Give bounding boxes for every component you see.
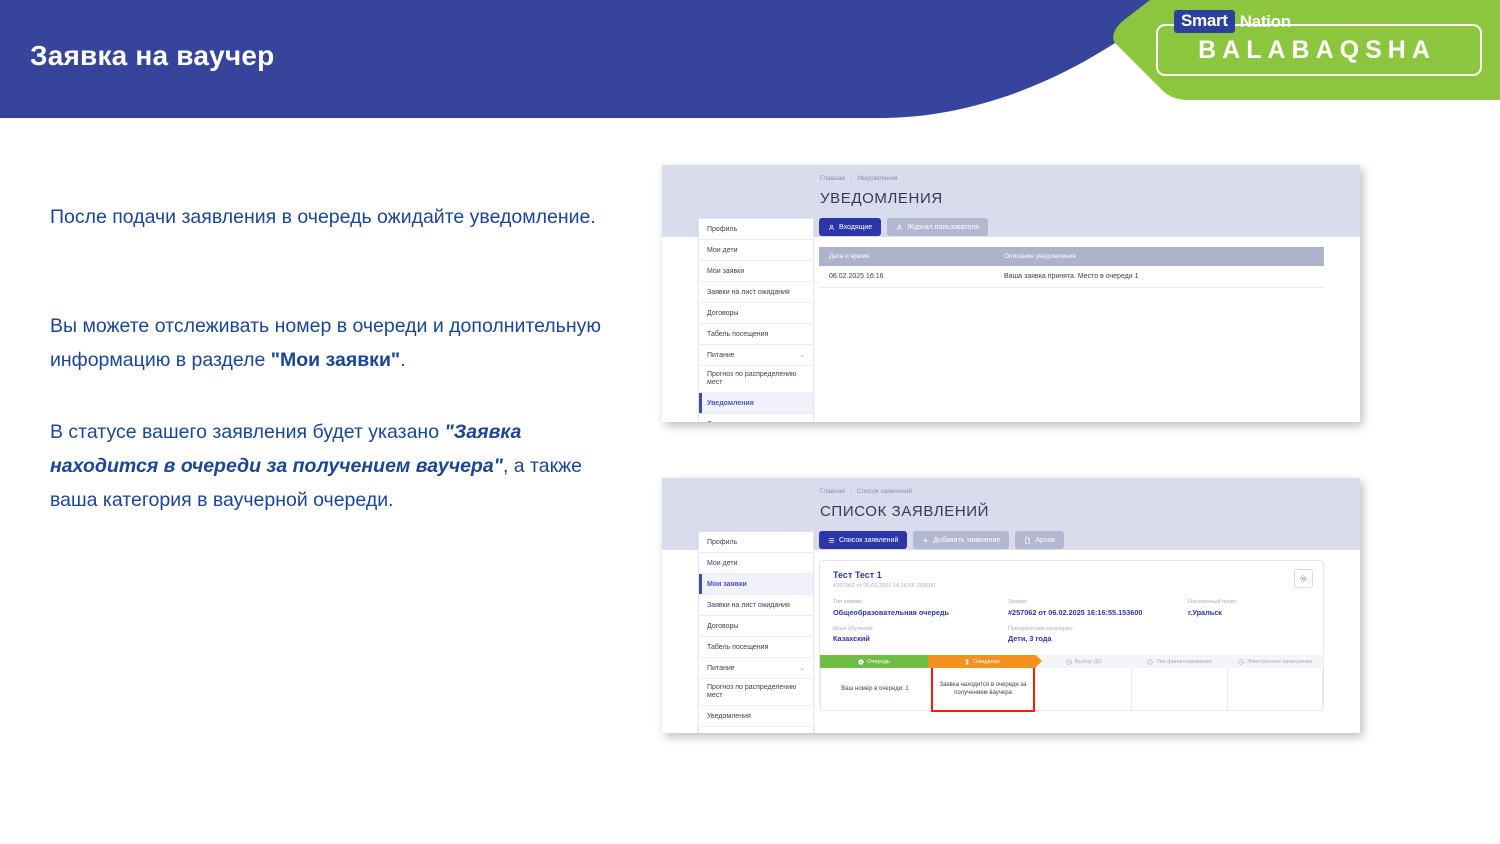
card-reference: #257062 от 06.02.2025 16:16:55.153600 <box>833 583 935 589</box>
shot2-breadcrumb-home[interactable]: Главная <box>820 488 845 495</box>
shot2-breadcrumb: Главная›Список заявлений <box>820 488 912 495</box>
card-field-row-2: Язык обучения: Казахский Приоритетная ка… <box>833 626 1310 644</box>
card-child-name: Тест Тест 1 <box>833 570 882 580</box>
sidebar-item-contracts-label: Договоры <box>707 310 738 317</box>
logo-nation-text: Nation <box>1240 12 1291 32</box>
logo-smart-text: Smart <box>1174 10 1235 33</box>
page-title: Заявка на ваучер <box>30 40 274 72</box>
user-icon <box>828 224 835 231</box>
sidebar-item-my-applications[interactable]: Мои заявки <box>699 261 813 282</box>
sidebar-item-attendance[interactable]: Табель посещения <box>699 637 813 658</box>
gear-icon <box>1299 574 1308 583</box>
tab-archive-label: Архив <box>1035 537 1055 544</box>
step-funding-type-label: Тип финансирования <box>1156 659 1211 665</box>
highlight-box <box>931 666 1035 712</box>
paragraph-track-queue-bold: "Мои заявки" <box>271 349 400 371</box>
check-circle-icon <box>858 659 864 665</box>
field-application-type-value: Общеобразовательная очередь <box>833 608 1008 617</box>
tab-user-log-label: Журнал пользователя <box>907 224 979 231</box>
shot1-breadcrumb-current: Уведомления <box>857 175 898 182</box>
paragraph-status-info-part1: В статусе вашего заявления будет указано <box>50 421 444 443</box>
screenshot-notifications: Главная›Уведомления УВЕДОМЛЕНИЯ Профиль … <box>662 165 1360 422</box>
card-field-row-1: Тип заявки: Общеобразовательная очередь … <box>833 599 1310 617</box>
field-priority-category-value: Дети, 3 года <box>1008 634 1188 643</box>
status-cell-electronic-enrollment <box>1228 668 1322 710</box>
sidebar-item-places-forecast[interactable]: Прогноз по распределению мест <box>699 366 813 393</box>
sidebar-item-my-applications[interactable]: Мои заявки <box>699 574 813 595</box>
sidebar-item-my-applications-label: Мои заявки <box>707 268 744 275</box>
explanatory-text-column: После подачи заявления в очередь ожидайт… <box>50 200 615 517</box>
field-priority-category-label: Приоритетная категория: <box>1008 626 1188 632</box>
sidebar-item-notifications[interactable]: Уведомления <box>699 706 813 727</box>
card-fields: Тип заявки: Общеобразовательная очередь … <box>833 599 1310 652</box>
sidebar-item-waiting-list-label: Заявки на лист ожидания <box>707 289 790 296</box>
sidebar-item-attendance[interactable]: Табель посещения <box>699 324 813 345</box>
paragraph-track-queue-part2: . <box>400 349 405 371</box>
sidebar-item-contracts-label: Договоры <box>707 623 738 630</box>
field-language-value: Казахский <box>833 634 1008 643</box>
column-header-description: Описание уведомления <box>994 247 1324 266</box>
sidebar-item-change-role[interactable]: Сменить роль <box>699 414 813 422</box>
tab-add-application[interactable]: Добавить заявление <box>913 531 1009 549</box>
sidebar-item-notifications-label: Уведомления <box>707 713 751 720</box>
sidebar-item-meals[interactable]: Питание⌄ <box>699 658 813 679</box>
sidebar-item-places-forecast-label: Прогноз по распределению мест <box>707 684 805 701</box>
application-status-row: Ваш номер в очереди: 1 Заявка находится … <box>820 668 1323 711</box>
tab-user-log[interactable]: Журнал пользователя <box>887 218 988 236</box>
shot2-tab-bar: Список заявлений Добавить заявление Архи… <box>819 531 1064 549</box>
field-priority-category: Приоритетная категория: Дети, 3 года <box>1008 626 1188 644</box>
clock-icon <box>1238 659 1244 665</box>
page-header: Заявка на ваучер Smart Nation BALABAQSHA <box>0 0 1500 118</box>
field-language-label: Язык обучения: <box>833 626 1008 632</box>
column-header-datetime: Дата и время <box>819 247 994 266</box>
sidebar-item-contracts[interactable]: Договоры <box>699 616 813 637</box>
status-cell-choose-preschool <box>1037 668 1132 710</box>
shot1-breadcrumb-separator-icon: › <box>850 175 852 182</box>
hourglass-icon <box>964 659 970 665</box>
field-application-type-label: Тип заявки: <box>833 599 1008 605</box>
sidebar-item-meals[interactable]: Питание⌄ <box>699 345 813 366</box>
status-queue-number: Ваш номер в очереди: 1 <box>821 668 929 710</box>
step-electronic-enrollment-label: Электронное зачисление <box>1247 659 1313 665</box>
field-application-type: Тип заявки: Общеобразовательная очередь <box>833 599 1008 617</box>
step-queue-label: Очередь <box>867 659 890 665</box>
sidebar-item-waiting-list[interactable]: Заявки на лист ожидания <box>699 282 813 303</box>
status-waiting-message: Заявка находится в очереди за получением… <box>929 668 1037 710</box>
cell-description: Ваша заявка принята. Место в очереди 1 <box>994 266 1324 288</box>
sidebar-item-waiting-list-label: Заявки на лист ожидания <box>707 602 790 609</box>
sidebar-item-my-children-label: Мои дети <box>707 247 738 254</box>
field-locality: Населенный пункт: г.Уральск <box>1188 599 1308 617</box>
field-application-ref: Заявка: #257062 от 06.02.2025 16:16:55.1… <box>1008 599 1188 617</box>
tab-inbox-label: Входящие <box>839 224 872 231</box>
field-application-ref-label: Заявка: <box>1008 599 1188 605</box>
sidebar-item-notifications-label: Уведомления <box>707 400 754 407</box>
sidebar-item-change-role-label: Сменить роль <box>707 421 753 422</box>
sidebar-item-places-forecast[interactable]: Прогноз по распределению мест <box>699 679 813 706</box>
step-funding-type[interactable]: Тип финансирования <box>1132 655 1228 668</box>
sidebar-item-profile[interactable]: Профиль <box>699 219 813 240</box>
sidebar-item-my-applications-label: Мои заявки <box>707 581 747 588</box>
step-queue[interactable]: Очередь <box>820 655 928 668</box>
screenshot-applications-list: Главная›Список заявлений СПИСОК ЗАЯВЛЕНИ… <box>662 478 1360 733</box>
tab-applications-list[interactable]: Список заявлений <box>819 531 907 549</box>
plus-icon <box>922 537 929 544</box>
sidebar-item-my-children[interactable]: Мои дети <box>699 553 813 574</box>
tab-inbox[interactable]: Входящие <box>819 218 881 236</box>
user-icon <box>896 224 903 231</box>
shot1-tab-bar: Входящие Журнал пользователя <box>819 218 988 236</box>
chevron-down-icon: ⌄ <box>799 352 805 359</box>
cell-datetime: 06.02.2025 16:16 <box>819 266 994 288</box>
sidebar-item-my-children-label: Мои дети <box>707 560 738 567</box>
field-language: Язык обучения: Казахский <box>833 626 1008 644</box>
brand-logo: Smart Nation BALABAQSHA <box>1080 0 1500 100</box>
sidebar-item-profile[interactable]: Профиль <box>699 532 813 553</box>
file-icon <box>1024 537 1031 544</box>
status-cell-funding-type <box>1132 668 1227 710</box>
sidebar-item-notifications[interactable]: Уведомления <box>699 393 813 414</box>
clock-icon <box>1147 659 1153 665</box>
sidebar-item-meals-label: Питание <box>707 665 735 672</box>
field-application-ref-value: #257062 от 06.02.2025 16:16:55.153600 <box>1008 608 1188 617</box>
clock-icon <box>1066 659 1072 665</box>
tab-applications-list-label: Список заявлений <box>839 537 898 544</box>
chevron-down-icon: ⌄ <box>799 665 805 672</box>
sidebar-item-attendance-label: Табель посещения <box>707 644 768 651</box>
sidebar-item-my-children[interactable]: Мои дети <box>699 240 813 261</box>
step-waiting-label: Ожидание <box>973 659 1000 665</box>
sidebar-item-meals-label: Питание <box>707 352 735 359</box>
step-electronic-enrollment[interactable]: Электронное зачисление <box>1227 655 1323 668</box>
sidebar-item-contracts[interactable]: Договоры <box>699 303 813 324</box>
shot1-breadcrumb-home[interactable]: Главная <box>820 175 845 182</box>
paragraph-notification-wait: После подачи заявления в очередь ожидайт… <box>50 200 615 234</box>
application-card: Тест Тест 1 #257062 от 06.02.2025 16:16:… <box>819 560 1324 708</box>
tab-archive[interactable]: Архив <box>1015 531 1064 549</box>
application-progress-steps: Очередь Ожидание Выбор ДО Тип финансиров… <box>820 655 1323 668</box>
field-locality-value: г.Уральск <box>1188 608 1308 617</box>
shot2-breadcrumb-separator-icon: › <box>850 488 852 495</box>
sidebar-item-profile-label: Профиль <box>707 226 737 233</box>
sidebar-item-attendance-label: Табель посещения <box>707 331 768 338</box>
sidebar-item-profile-label: Профиль <box>707 539 737 546</box>
shot2-breadcrumb-current: Список заявлений <box>857 488 912 495</box>
shot1-sidebar-nav: Профиль Мои дети Мои заявки Заявки на ли… <box>698 218 814 422</box>
logo-balabaqsha-text: BALABAQSHA <box>1152 36 1482 65</box>
list-icon <box>828 537 835 544</box>
tab-add-application-label: Добавить заявление <box>933 537 1000 544</box>
shot1-breadcrumb: Главная›Уведомления <box>820 175 898 182</box>
step-waiting[interactable]: Ожидание <box>928 655 1036 668</box>
step-choose-preschool[interactable]: Выбор ДО <box>1036 655 1132 668</box>
table-header-row: Дата и время Описание уведомления <box>819 247 1324 266</box>
table-row[interactable]: 06.02.2025 16:16 Ваша заявка принята. Ме… <box>819 266 1324 288</box>
sidebar-item-waiting-list[interactable]: Заявки на лист ожидания <box>699 595 813 616</box>
shot1-notifications-table: Дата и время Описание уведомления 06.02.… <box>819 247 1324 288</box>
sidebar-item-places-forecast-label: Прогноз по распределению мест <box>707 371 805 388</box>
paragraph-track-queue: Вы можете отслеживать номер в очереди и … <box>50 309 615 377</box>
logo-smart-nation: Smart Nation <box>1174 10 1291 33</box>
shot2-sidebar-nav: Профиль Мои дети Мои заявки Заявки на ли… <box>698 531 814 733</box>
field-locality-label: Населенный пункт: <box>1188 599 1308 605</box>
step-choose-preschool-label: Выбор ДО <box>1075 659 1102 665</box>
sidebar-item-change-role[interactable]: Сменить роль <box>699 727 813 733</box>
settings-button[interactable] <box>1294 569 1313 588</box>
paragraph-status-info: В статусе вашего заявления будет указано… <box>50 415 615 517</box>
shot1-page-title: УВЕДОМЛЕНИЯ <box>820 190 943 207</box>
shot2-page-title: СПИСОК ЗАЯВЛЕНИЙ <box>820 503 989 520</box>
